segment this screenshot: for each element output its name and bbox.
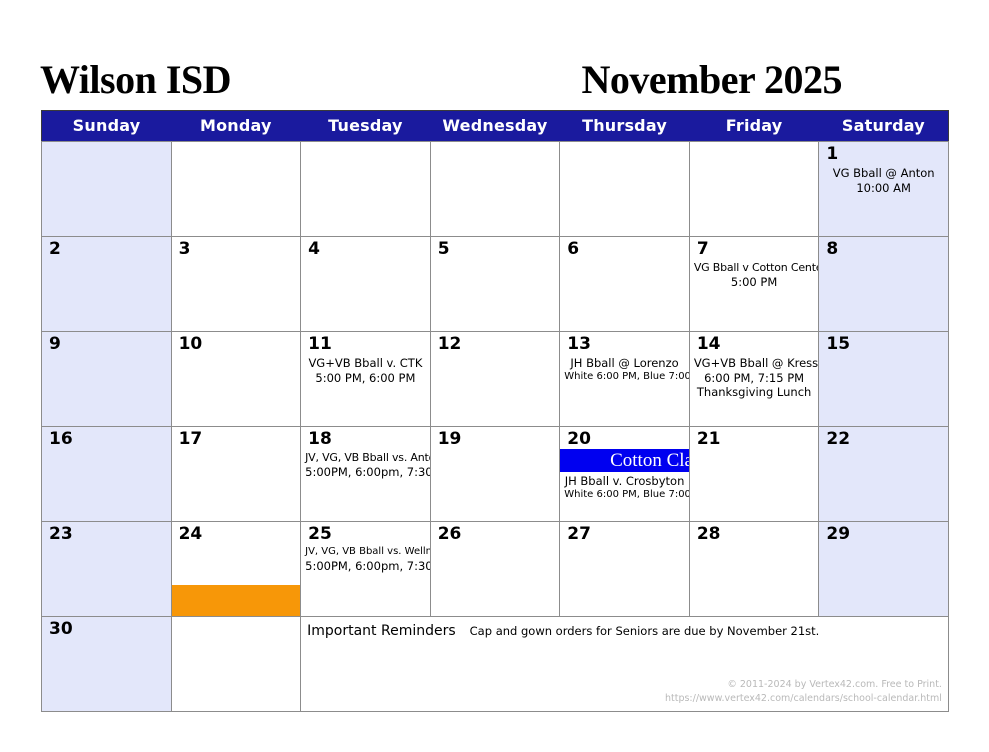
calendar-week-row: 23 24 Thanksgiving Break 25 JV, VG, VB B…: [42, 522, 949, 617]
event-text: JH Bball v. Crosbyton: [564, 474, 685, 489]
weekday-header-wednesday: Wednesday: [430, 111, 560, 142]
day-cell-5[interactable]: 5: [430, 237, 560, 332]
event-time: 10:00 AM: [823, 181, 944, 196]
day-cell-8[interactable]: 8: [819, 237, 949, 332]
day-number: 3: [172, 237, 301, 259]
day-number: 2: [42, 237, 171, 259]
day-number: 21: [690, 427, 819, 449]
calendar-title-bar: Wilson ISD November 2025: [40, 48, 948, 100]
tournament-banner[interactable]: Cotton Classic Tournament (VG+VB): [560, 449, 689, 472]
event-text-secondary: Thanksgiving Lunch: [694, 385, 815, 400]
event-time: White 6:00 PM, Blue 7:00 PM: [564, 489, 685, 502]
weekday-header-friday: Friday: [689, 111, 819, 142]
event-text: VG Bball v Cotton Center: [694, 261, 815, 275]
day-number: 28: [690, 522, 819, 544]
day-events: JV, VG, VB Bball vs. Anton 5:00PM, 6:00p…: [301, 449, 430, 480]
day-number: 25: [301, 522, 430, 544]
day-number: [690, 142, 819, 146]
weekday-header-saturday: Saturday: [819, 111, 949, 142]
day-number: 7: [690, 237, 819, 259]
day-cell-6[interactable]: 6: [560, 237, 690, 332]
day-number: 19: [431, 427, 560, 449]
calendar-header-row: Sunday Monday Tuesday Wednesday Thursday…: [42, 111, 949, 142]
day-number: 14: [690, 332, 819, 354]
reminders-text: Cap and gown orders for Seniors are due …: [470, 624, 820, 638]
day-number: 13: [560, 332, 689, 354]
day-cell-30[interactable]: 30: [42, 617, 172, 712]
footer-copyright: © 2011-2024 by Vertex42.com. Free to Pri…: [665, 678, 942, 693]
day-cell-19[interactable]: 19: [430, 427, 560, 522]
day-number: [42, 142, 171, 146]
day-number: [431, 142, 560, 146]
day-number: 11: [301, 332, 430, 354]
event-text: VG+VB Bball v. CTK: [305, 356, 426, 371]
weekday-header-sunday: Sunday: [42, 111, 172, 142]
day-cell-empty[interactable]: [689, 142, 819, 237]
event-time: 6:00 PM, 7:15 PM: [694, 371, 815, 386]
event-text: VG Bball @ Anton: [823, 166, 944, 181]
day-number: 6: [560, 237, 689, 259]
day-cell-17[interactable]: 17: [171, 427, 301, 522]
day-number: 27: [560, 522, 689, 544]
day-cell-11[interactable]: 11 VG+VB Bball v. CTK 5:00 PM, 6:00 PM: [301, 332, 431, 427]
day-events: VG Bball v Cotton Center 5:00 PM: [690, 259, 819, 290]
day-cell-4[interactable]: 4: [301, 237, 431, 332]
day-number: 26: [431, 522, 560, 544]
day-cell-1[interactable]: 1 VG Bball @ Anton 10:00 AM: [819, 142, 949, 237]
day-cell-26[interactable]: 26: [430, 522, 560, 617]
calendar-week-row: 1 VG Bball @ Anton 10:00 AM: [42, 142, 949, 237]
day-events: VG Bball @ Anton 10:00 AM: [819, 164, 948, 195]
calendar-week-row: 16 17 18 JV, VG, VB Bball vs. Anton 5:00…: [42, 427, 949, 522]
day-events: JV, VG, VB Bball vs. Wellman 5:00PM, 6:0…: [301, 544, 430, 574]
day-number: 29: [819, 522, 948, 544]
day-number: 15: [819, 332, 948, 354]
day-cell-24[interactable]: 24 Thanksgiving Break: [171, 522, 301, 617]
day-cell-7[interactable]: 7 VG Bball v Cotton Center 5:00 PM: [689, 237, 819, 332]
day-number: [172, 142, 301, 146]
event-time: 5:00PM, 6:00pm, 7:30PM: [305, 559, 426, 574]
day-cell-28[interactable]: 28: [689, 522, 819, 617]
day-cell-15[interactable]: 15: [819, 332, 949, 427]
organization-title: Wilson ISD: [40, 60, 231, 100]
day-number: [560, 142, 689, 146]
day-cell-18[interactable]: 18 JV, VG, VB Bball vs. Anton 5:00PM, 6:…: [301, 427, 431, 522]
day-cell-empty[interactable]: [560, 142, 690, 237]
day-cell-empty[interactable]: [301, 142, 431, 237]
event-text: VG+VB Bball @ Kress: [694, 356, 815, 371]
weekday-header-monday: Monday: [171, 111, 301, 142]
weekday-header-thursday: Thursday: [560, 111, 690, 142]
event-text: JV, VG, VB Bball vs. Wellman: [305, 546, 426, 559]
event-time: 5:00PM, 6:00pm, 7:30PM: [305, 465, 426, 480]
day-events: JH Bball @ Lorenzo White 6:00 PM, Blue 7…: [560, 354, 689, 384]
day-number: 16: [42, 427, 171, 449]
day-cell-3[interactable]: 3: [171, 237, 301, 332]
day-number: [301, 142, 430, 146]
day-number: 4: [301, 237, 430, 259]
day-cell-9[interactable]: 9: [42, 332, 172, 427]
day-cell-empty[interactable]: [42, 142, 172, 237]
thanksgiving-break-banner[interactable]: Thanksgiving Break: [172, 585, 301, 616]
day-events: VG+VB Bball v. CTK 5:00 PM, 6:00 PM: [301, 354, 430, 385]
calendar-week-row: 2 3 4 5 6 7 VG Bball v Cotton Center: [42, 237, 949, 332]
day-number: 22: [819, 427, 948, 449]
day-events: VG+VB Bball @ Kress 6:00 PM, 7:15 PM Tha…: [690, 354, 819, 400]
day-cell-21[interactable]: 21: [689, 427, 819, 522]
day-number: 1: [819, 142, 948, 164]
day-number: 17: [172, 427, 301, 449]
footer-credit: © 2011-2024 by Vertex42.com. Free to Pri…: [665, 678, 942, 707]
weekday-header-tuesday: Tuesday: [301, 111, 431, 142]
day-cell-23[interactable]: 23: [42, 522, 172, 617]
day-number: 24: [172, 522, 301, 544]
event-time: 5:00 PM: [694, 275, 815, 290]
reminder-line: Important Reminders Cap and gown orders …: [307, 623, 948, 639]
reminders-label: Important Reminders: [307, 623, 456, 639]
calendar-table: Sunday Monday Tuesday Wednesday Thursday…: [41, 110, 949, 712]
day-cell-27[interactable]: 27: [560, 522, 690, 617]
day-cell-empty[interactable]: [171, 617, 301, 712]
important-reminders-cell[interactable]: Important Reminders Cap and gown orders …: [301, 617, 949, 712]
day-number: 30: [42, 617, 171, 639]
month-year-title: November 2025: [582, 60, 843, 100]
calendar-week-row: 9 10 11 VG+VB Bball v. CTK 5:00 PM, 6:00…: [42, 332, 949, 427]
day-cell-empty[interactable]: [171, 142, 301, 237]
event-text: JH Bball @ Lorenzo: [564, 356, 685, 371]
footer-url[interactable]: https://www.vertex42.com/calendars/schoo…: [665, 692, 942, 707]
day-cell-empty[interactable]: [430, 142, 560, 237]
day-cell-20[interactable]: 20 JH Bball v. Crosbyton White 6:00 PM, …: [560, 427, 690, 522]
day-cell-16[interactable]: 16: [42, 427, 172, 522]
day-cell-10[interactable]: 10: [171, 332, 301, 427]
day-number: 5: [431, 237, 560, 259]
day-number: 20: [560, 427, 689, 449]
day-cell-13[interactable]: 13 JH Bball @ Lorenzo White 6:00 PM, Blu…: [560, 332, 690, 427]
day-cell-25[interactable]: 25 JV, VG, VB Bball vs. Wellman 5:00PM, …: [301, 522, 431, 617]
day-cell-12[interactable]: 12: [430, 332, 560, 427]
event-text: JV, VG, VB Bball vs. Anton: [305, 451, 426, 465]
day-cell-22[interactable]: 22: [819, 427, 949, 522]
event-time: 5:00 PM, 6:00 PM: [305, 371, 426, 386]
day-number: 23: [42, 522, 171, 544]
day-number: 10: [172, 332, 301, 354]
day-cell-14[interactable]: 14 VG+VB Bball @ Kress 6:00 PM, 7:15 PM …: [689, 332, 819, 427]
day-number: 9: [42, 332, 171, 354]
calendar-page: Wilson ISD November 2025 Sunday Monday T…: [0, 0, 989, 752]
day-number: 18: [301, 427, 430, 449]
day-number: 12: [431, 332, 560, 354]
day-cell-2[interactable]: 2: [42, 237, 172, 332]
day-number: 8: [819, 237, 948, 259]
calendar-week-row-last: 30 Important Reminders Cap and gown orde…: [42, 617, 949, 712]
day-cell-29[interactable]: 29: [819, 522, 949, 617]
event-time: White 6:00 PM, Blue 7:00 PM: [564, 371, 685, 384]
